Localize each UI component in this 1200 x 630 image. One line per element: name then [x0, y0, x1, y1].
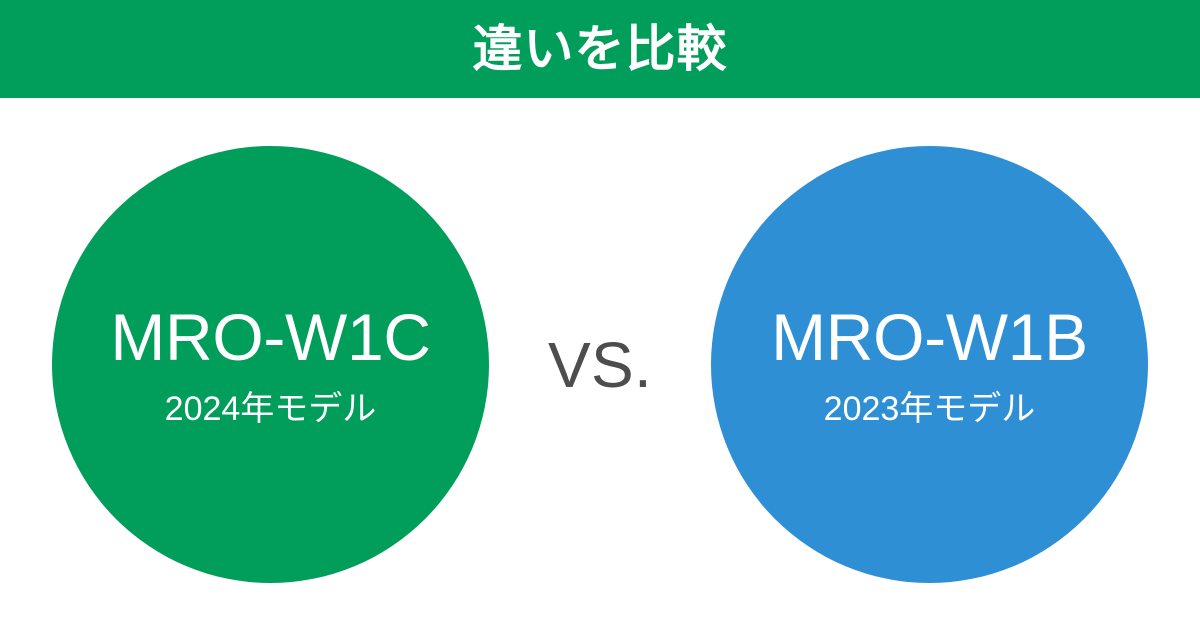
- versus-separator: VS.: [489, 146, 711, 583]
- comparison-item-right: MRO-W1B 2023年モデル: [711, 146, 1148, 583]
- header-banner: 違いを比較: [0, 0, 1200, 98]
- model-name-left: MRO-W1C: [110, 304, 430, 370]
- model-year-right: 2023年モデル: [824, 392, 1036, 426]
- comparison-item-left: MRO-W1C 2024年モデル: [52, 146, 489, 583]
- model-year-left: 2024年モデル: [165, 392, 377, 426]
- comparison-stage: MRO-W1C 2024年モデル VS. MRO-W1B 2023年モデル: [0, 98, 1200, 630]
- page-title: 違いを比較: [473, 24, 728, 74]
- model-name-right: MRO-W1B: [771, 304, 1088, 370]
